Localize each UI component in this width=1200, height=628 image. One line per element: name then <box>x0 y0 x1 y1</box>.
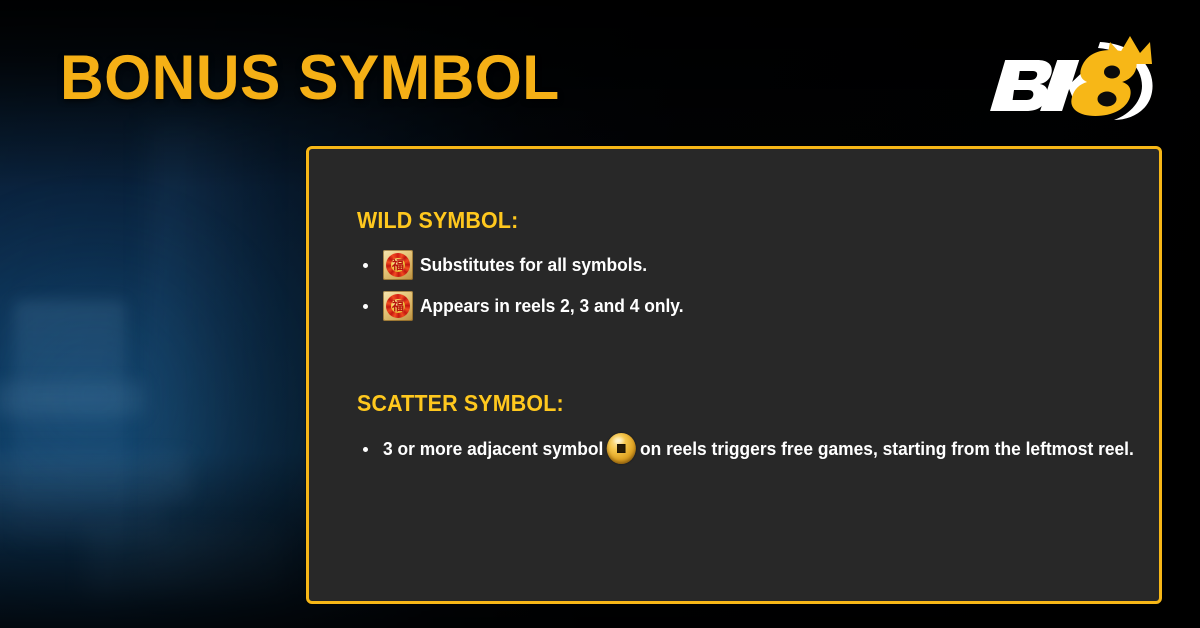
bk8-logo[interactable] <box>988 26 1164 124</box>
scatter-coin-icon <box>607 433 636 464</box>
scatter-text-before: 3 or more adjacent symbol <box>383 438 603 460</box>
page-title: BONUS SYMBOL <box>60 47 560 110</box>
list-item: 福 Appears in reels 2, 3 and 4 only. <box>357 291 1129 321</box>
scatter-description: 3 or more adjacent symbol on reels trigg… <box>383 433 1134 464</box>
list-item: 3 or more adjacent symbol on reels trigg… <box>357 433 1129 464</box>
wild-bullet-list: 福 Substitutes for all symbols. 福 Appears… <box>357 250 1129 321</box>
info-panel: WILD SYMBOL: 福 Substitutes for all symbo… <box>306 146 1162 604</box>
list-item-label: Appears in reels 2, 3 and 4 only. <box>420 295 684 317</box>
wild-symbol-icon: 福 <box>383 250 413 280</box>
promo-banner: BONUS SYMBOL <box>0 0 1200 628</box>
scatter-text-after: on reels triggers free games, starting f… <box>640 438 1134 460</box>
wild-symbol-icon: 福 <box>383 291 413 321</box>
section-title-wild: WILD SYMBOL: <box>357 207 1075 234</box>
section-title-scatter: SCATTER SYMBOL: <box>357 390 1075 417</box>
list-item: 福 Substitutes for all symbols. <box>357 250 1129 280</box>
section-spacer <box>357 332 1129 390</box>
list-item-label: Substitutes for all symbols. <box>420 254 647 276</box>
scatter-bullet-list: 3 or more adjacent symbol on reels trigg… <box>357 433 1129 464</box>
